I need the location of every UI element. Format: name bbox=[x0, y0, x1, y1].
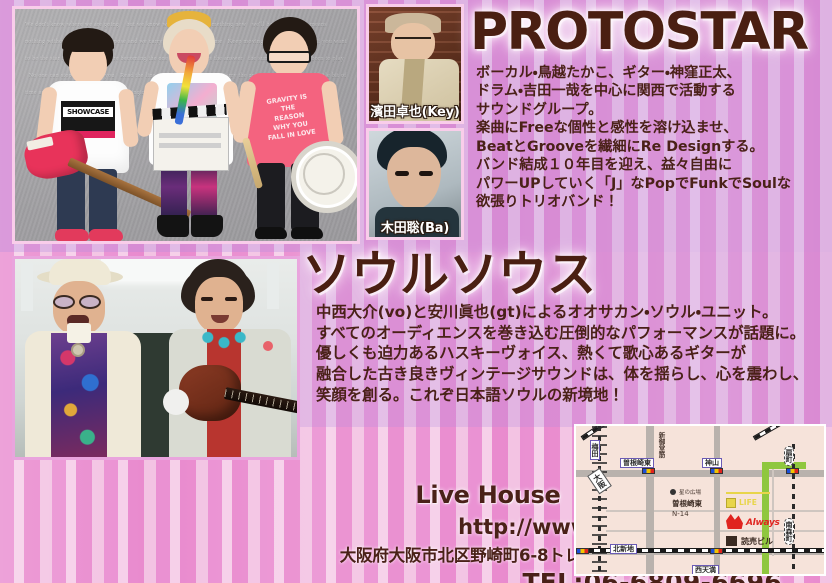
member-thumb-ba: 木田聡(Ba) bbox=[366, 128, 464, 240]
map-annotation-n14: N-14 bbox=[672, 510, 689, 518]
protostar-member-drummer: GRAVITY IS THEREASONWHY YOUFALL IN LOVE bbox=[233, 11, 345, 241]
soulsouce-description: 中西大介(vo)と安川眞也(gt)によるオオサカン・ソウル・ユニット。 すべての… bbox=[316, 302, 832, 405]
protostar-title: PROTOSTAR bbox=[470, 6, 808, 58]
venue-location-map[interactable]: 梅田 扇町 南森町 北新地 西天満 大阪 新御堂筋 曽根崎東 神山 星の広場 曽… bbox=[574, 424, 826, 576]
map-intersection-kamiyama: 神山 bbox=[702, 458, 722, 468]
map-canvas: 梅田 扇町 南森町 北新地 西天満 大阪 新御堂筋 曽根崎東 神山 星の広場 曽… bbox=[576, 426, 824, 574]
map-signal-right bbox=[786, 468, 799, 474]
map-signal-bottom bbox=[710, 548, 723, 554]
protostar-band-photo: We don't know where we are going but we … bbox=[12, 6, 360, 244]
venue-kind-label: Live House bbox=[415, 481, 560, 509]
soulsouce-member-guitarist bbox=[155, 261, 297, 457]
map-icon-yomiuri bbox=[726, 536, 737, 546]
map-signal-sonezakihigashi bbox=[642, 468, 655, 474]
flyer-root: We don't know where we are going but we … bbox=[0, 0, 832, 583]
map-road-label-shinmidosuji: 新御堂筋 bbox=[656, 432, 666, 458]
map-station-nishitenma: 西天満 bbox=[692, 565, 719, 575]
map-icon-life-line bbox=[726, 492, 770, 494]
map-station-minamimorimachi: 南森町 bbox=[784, 518, 794, 545]
map-annotation-hoshinohiroba: 星の広場 bbox=[679, 488, 701, 496]
map-place-yomiuri: 読売ビル bbox=[741, 536, 773, 547]
map-intersection-sonezakihigashi: 曽根崎東 bbox=[620, 458, 654, 468]
map-signal-kamiyama bbox=[710, 468, 723, 474]
map-road-shinmidosuji bbox=[646, 426, 654, 576]
map-place-life: LIFE bbox=[739, 498, 757, 507]
soulsouce-member-vocalist bbox=[23, 265, 141, 457]
member-key-caption: 濱田卓也(Key) bbox=[369, 101, 461, 121]
soulsouce-title: ソウルソウス bbox=[302, 250, 596, 299]
map-place-always: Always bbox=[746, 518, 780, 528]
member-thumb-key: 濱田卓也(Key) bbox=[366, 4, 464, 124]
protostar-member-guitarist: SHOWCASE bbox=[33, 15, 145, 241]
map-signal-bottom-left bbox=[576, 548, 589, 554]
protostar-description: ボーカル・鳥越たかこ、ギター・神窪正太、 ドラム・吉田一哉を中心に関西で活動する… bbox=[476, 64, 828, 212]
map-dot-hoshinohiroba bbox=[670, 489, 676, 495]
map-station-ogimachi: 扇町 bbox=[784, 446, 794, 466]
protostar-member-vocalist bbox=[137, 9, 245, 241]
map-station-umeda: 梅田 bbox=[590, 440, 600, 460]
map-icon-life bbox=[726, 498, 736, 508]
map-annotation-sonezakihigashi: 曽根崎東 bbox=[672, 498, 702, 509]
map-station-kitashinchi: 北新地 bbox=[610, 544, 637, 554]
soulsouce-band-photo bbox=[12, 256, 300, 460]
map-rail-top-right bbox=[753, 424, 809, 441]
map-icon-always bbox=[726, 514, 743, 529]
member-ba-caption: 木田聡(Ba) bbox=[369, 217, 461, 237]
